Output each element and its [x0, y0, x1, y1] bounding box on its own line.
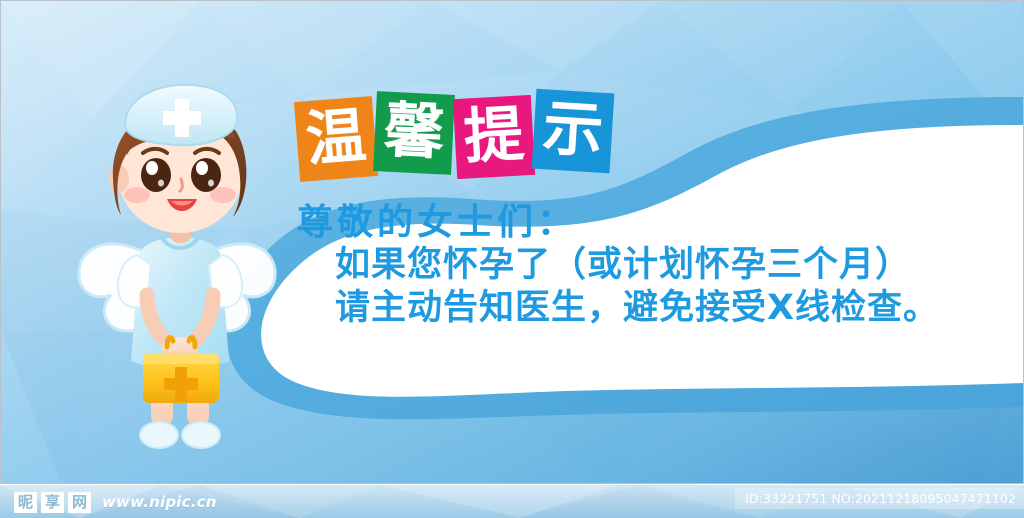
nurse-cap-icon — [125, 85, 237, 145]
logo-char-2: 享 — [41, 492, 64, 513]
notice-line-2: 如果您怀孕了（或计划怀孕三个月） — [297, 244, 957, 287]
notice-line-1: 尊敬的女士们： — [297, 201, 957, 244]
footer-bar: 昵 享 网 www.nipic.cn ID:33221751 NO:202112… — [0, 484, 1024, 518]
poster-board: 温 馨 提 示 尊敬的女士们： 如果您怀孕了（或计划怀孕三个月） 请主动告知医生… — [0, 0, 1024, 484]
notice-body: 尊敬的女士们： 如果您怀孕了（或计划怀孕三个月） 请主动告知医生，避免接受X线检… — [297, 201, 957, 330]
poster-root: 温 馨 提 示 尊敬的女士们： 如果您怀孕了（或计划怀孕三个月） 请主动告知医生… — [0, 0, 1024, 518]
nurse-illustration — [67, 49, 297, 469]
image-id-label: ID:33221751 NO:20211218095047471102 — [735, 488, 1024, 509]
title-tile-1: 温 — [294, 96, 378, 182]
title-char-2: 馨 — [383, 101, 446, 164]
title-tile-3: 提 — [453, 95, 535, 179]
logo-char-1: 昵 — [14, 492, 37, 513]
site-logo[interactable]: 昵 享 网 www.nipic.cn — [14, 489, 217, 515]
logo-char-3: 网 — [68, 492, 91, 513]
title-tile-4: 示 — [532, 89, 615, 174]
nurse-svg — [67, 49, 297, 469]
title-char-1: 温 — [304, 106, 369, 171]
title-char-3: 提 — [462, 104, 525, 167]
site-url[interactable]: www.nipic.cn — [102, 493, 217, 511]
title-tile-2: 馨 — [373, 91, 455, 175]
notice-line-3: 请主动告知医生，避免接受X线检查。 — [297, 287, 957, 330]
title-char-4: 示 — [541, 98, 605, 162]
poster-title: 温 馨 提 示 — [297, 89, 647, 185]
